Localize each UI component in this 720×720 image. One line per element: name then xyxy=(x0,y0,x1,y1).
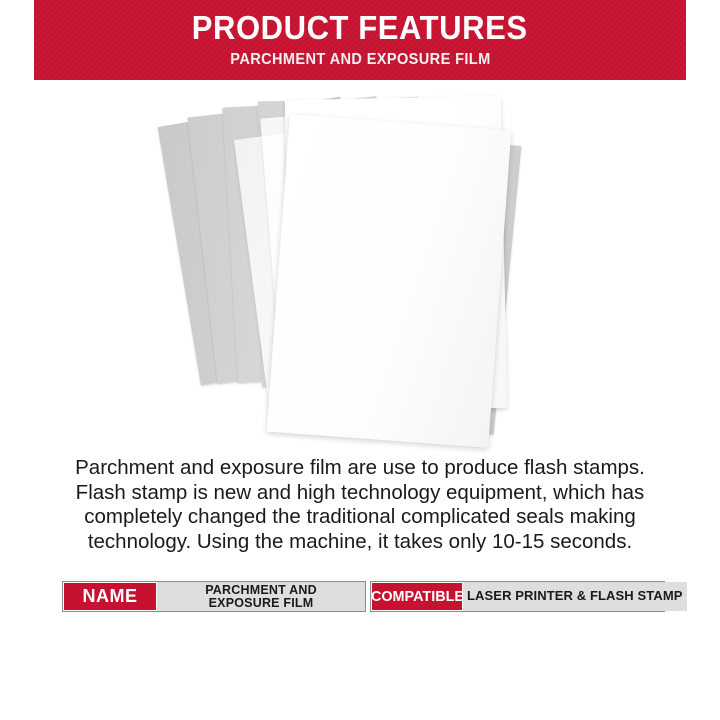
description-line: technology. Using the machine, it takes … xyxy=(40,530,680,555)
spec-key-compatible-label: COMPATIBLE xyxy=(370,588,463,605)
spec-value-line: EXPOSURE FILM xyxy=(205,597,317,610)
spec-table: NAME PARCHMENT AND EXPOSURE FILM COMPATI… xyxy=(62,581,665,612)
spec-value-name: PARCHMENT AND EXPOSURE FILM xyxy=(157,582,365,611)
description-line: Flash stamp is new and high technology e… xyxy=(40,481,680,506)
spec-key-compatible: COMPATIBLE xyxy=(371,582,463,611)
description-line: Parchment and exposure film are use to p… xyxy=(40,456,680,481)
spec-row-compatible: COMPATIBLE LASER PRINTER & FLASH STAMP xyxy=(370,581,665,612)
spec-key-name: NAME xyxy=(63,582,157,611)
product-image xyxy=(160,92,560,437)
product-description: Parchment and exposure film are use to p… xyxy=(40,456,680,554)
header-banner: PRODUCT FEATURES PARCHMENT AND EXPOSURE … xyxy=(34,0,686,80)
spec-value-compatible: LASER PRINTER & FLASH STAMP xyxy=(463,582,687,611)
spec-value-line: PARCHMENT AND xyxy=(205,584,317,597)
spec-value-line: LASER PRINTER & FLASH STAMP xyxy=(467,590,683,603)
product-features-page: PRODUCT FEATURES PARCHMENT AND EXPOSURE … xyxy=(0,0,720,720)
description-line: completely changed the traditional compl… xyxy=(40,505,680,530)
spec-row-name: NAME PARCHMENT AND EXPOSURE FILM xyxy=(62,581,366,612)
page-subtitle: PARCHMENT AND EXPOSURE FILM xyxy=(230,51,490,69)
page-title: PRODUCT FEATURES xyxy=(192,11,528,45)
translucent-film-sheet xyxy=(267,114,512,447)
